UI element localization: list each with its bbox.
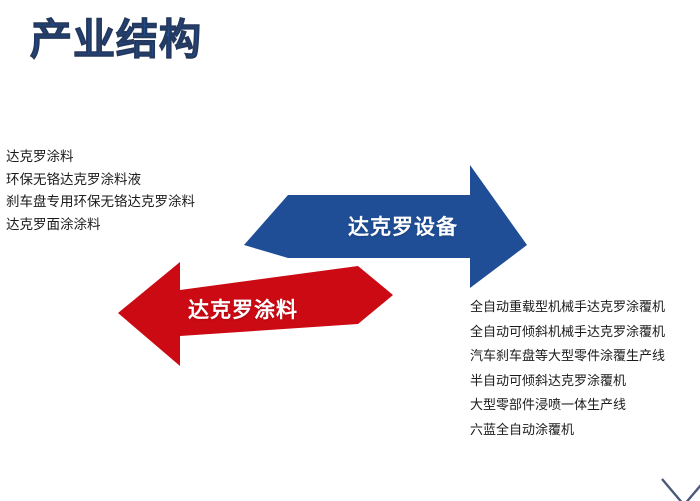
list-item: 刹车盘专用环保无铬达克罗涂料 [6,191,195,214]
list-item: 全自动重载型机械手达克罗涂覆机 [470,296,665,321]
list-item: 环保无铬达克罗涂料液 [6,169,195,192]
list-item: 六蓝全自动涂覆机 [470,419,665,444]
coatings-list: 达克罗涂料 环保无铬达克罗涂料液 刹车盘专用环保无铬达克罗涂料 达克罗面涂涂料 [6,146,195,236]
list-item: 大型零部件浸喷一体生产线 [470,394,665,419]
list-item: 达克罗面涂涂料 [6,214,195,237]
list-item: 半自动可倾斜达克罗涂覆机 [470,370,665,395]
corner-chevron-icon [660,475,700,501]
slide-canvas: 产业结构 达克罗涂料 环保无铬达克罗涂料液 刹车盘专用环保无铬达克罗涂料 达克罗… [0,0,700,501]
list-item: 达克罗涂料 [6,146,195,169]
blue-arrow-label: 达克罗设备 [348,211,458,241]
list-item: 全自动可倾斜机械手达克罗涂覆机 [470,321,665,346]
list-item: 汽车刹车盘等大型零件涂覆生产线 [470,345,665,370]
page-title: 产业结构 [30,14,202,67]
red-arrow-label: 达克罗涂料 [188,294,298,324]
equipment-list: 全自动重载型机械手达克罗涂覆机 全自动可倾斜机械手达克罗涂覆机 汽车刹车盘等大型… [470,296,665,443]
